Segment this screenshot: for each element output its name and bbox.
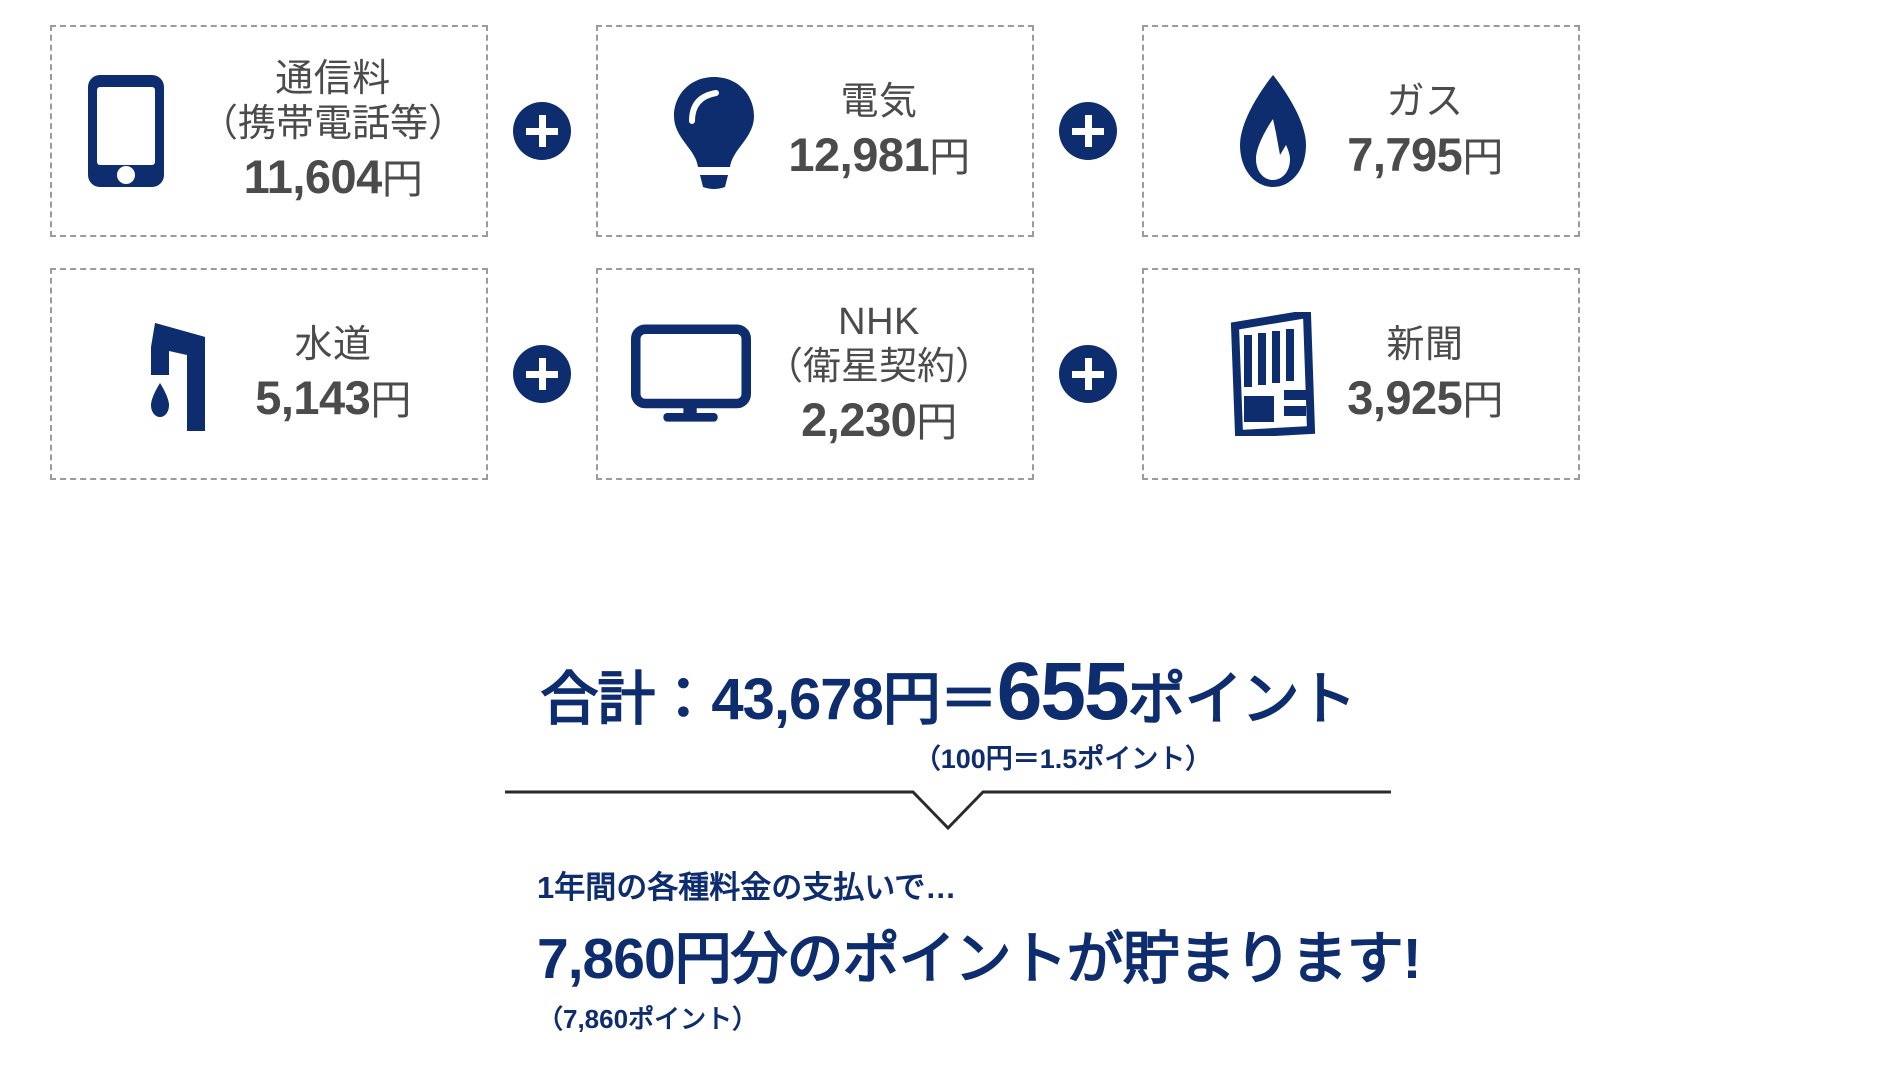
fee-card-text: 電気 12,981円 xyxy=(788,80,975,182)
plus-icon xyxy=(1059,345,1117,403)
total-line: 合計：43,678円＝655ポイント xyxy=(540,645,1355,739)
fee-card-text: NHK （衛星契約） 2,230円 xyxy=(765,300,999,447)
fee-card-row-1: 通信料 （携帯電話等） 11,604円 電 xyxy=(50,25,1850,237)
point-rate-note: （100円＝1.5ポイント） xyxy=(230,737,1896,776)
footer-lead-text: 1年間の各種料金の支払いで… xyxy=(537,862,1421,907)
fee-card-water: 水道 5,143円 xyxy=(50,268,488,480)
footer-accent: 貯まります! xyxy=(1123,927,1421,991)
fee-card-row-2: 水道 5,143円 NHK （衛星契約） 2,2 xyxy=(50,268,1850,480)
newspaper-icon xyxy=(1213,312,1333,436)
fee-card-label: ガス xyxy=(1386,80,1463,125)
fee-card-amount-unit: 円 xyxy=(916,399,957,445)
plus-operator-1 xyxy=(488,25,596,237)
fee-card-amount-unit: 円 xyxy=(1462,134,1503,180)
fee-card-amount-unit: 円 xyxy=(1462,377,1503,423)
footer-amount-tail: 円分のポイントが xyxy=(675,927,1123,991)
footer-summary: 1年間の各種料金の支払いで… 7,860円分のポイントが貯まります! （7,86… xyxy=(537,862,1421,1036)
fee-card-text: 新聞 3,925円 xyxy=(1347,323,1509,425)
fee-card-amount: 11,604円 xyxy=(244,149,423,204)
fee-card-label: 水道 xyxy=(294,323,371,368)
monitor-icon xyxy=(631,322,751,426)
plus-icon xyxy=(1059,102,1117,160)
plus-operator-4 xyxy=(1034,268,1142,480)
fee-card-amount-value: 2,230 xyxy=(801,393,916,446)
faucet-icon xyxy=(121,313,241,435)
fee-card-label: 通信料 xyxy=(275,57,391,102)
fee-card-amount-unit: 円 xyxy=(382,156,423,202)
infographic-root: 通信料 （携帯電話等） 11,604円 電 xyxy=(0,0,1896,1066)
fee-card-telecom: 通信料 （携帯電話等） 11,604円 xyxy=(50,25,488,237)
fee-card-amount-value: 7,795 xyxy=(1347,128,1462,181)
plus-icon xyxy=(513,345,571,403)
plus-icon xyxy=(513,102,571,160)
fee-card-amount: 3,925円 xyxy=(1347,370,1503,425)
plus-operator-3 xyxy=(488,268,596,480)
fee-card-amount: 7,795円 xyxy=(1347,127,1503,182)
bracket-connector xyxy=(0,790,1896,832)
smartphone-icon xyxy=(66,71,186,191)
flame-icon xyxy=(1213,71,1333,191)
fee-card-amount-unit: 円 xyxy=(929,134,970,180)
footer-main-text: 7,860円分のポイントが貯まります! xyxy=(537,913,1421,995)
fee-card-text: 通信料 （携帯電話等） 11,604円 xyxy=(200,57,472,204)
total-equals: ＝ xyxy=(940,667,997,732)
total-points-unit: ポイント xyxy=(1128,667,1356,732)
fee-card-gas: ガス 7,795円 xyxy=(1142,25,1580,237)
fee-card-amount: 5,143円 xyxy=(255,370,411,425)
fee-card-amount-value: 3,925 xyxy=(1347,371,1462,424)
fee-card-amount-value: 11,604 xyxy=(244,150,382,203)
fee-card-label: 新聞 xyxy=(1386,323,1463,368)
fee-card-grid: 通信料 （携帯電話等） 11,604円 電 xyxy=(50,25,1850,511)
total-amount: 43,678円 xyxy=(711,667,939,732)
lightbulb-icon xyxy=(654,71,774,191)
fee-card-text: 水道 5,143円 xyxy=(255,323,417,425)
fee-card-amount-value: 5,143 xyxy=(255,371,370,424)
fee-card-amount: 2,230円 xyxy=(801,392,957,447)
footer-amount: 7,860 xyxy=(537,927,675,991)
footer-sub-text: （7,860ポイント） xyxy=(537,999,1421,1036)
totals-block: 合計：43,678円＝655ポイント （100円＝1.5ポイント） xyxy=(0,645,1896,776)
fee-card-nhk: NHK （衛星契約） 2,230円 xyxy=(596,268,1034,480)
fee-card-amount-unit: 円 xyxy=(370,377,411,423)
total-prefix: 合計： xyxy=(540,667,711,732)
total-points: 655 xyxy=(997,646,1128,737)
fee-card-newspaper: 新聞 3,925円 xyxy=(1142,268,1580,480)
fee-card-sublabel: （衛星契約） xyxy=(765,345,993,390)
fee-card-text: ガス 7,795円 xyxy=(1347,80,1509,182)
fee-card-label: NHK xyxy=(838,300,920,345)
plus-operator-2 xyxy=(1034,25,1142,237)
fee-card-amount: 12,981円 xyxy=(788,127,969,182)
fee-card-amount-value: 12,981 xyxy=(788,128,929,181)
fee-card-electricity: 電気 12,981円 xyxy=(596,25,1034,237)
fee-card-sublabel: （携帯電話等） xyxy=(200,102,466,147)
fee-card-label: 電気 xyxy=(840,80,917,125)
